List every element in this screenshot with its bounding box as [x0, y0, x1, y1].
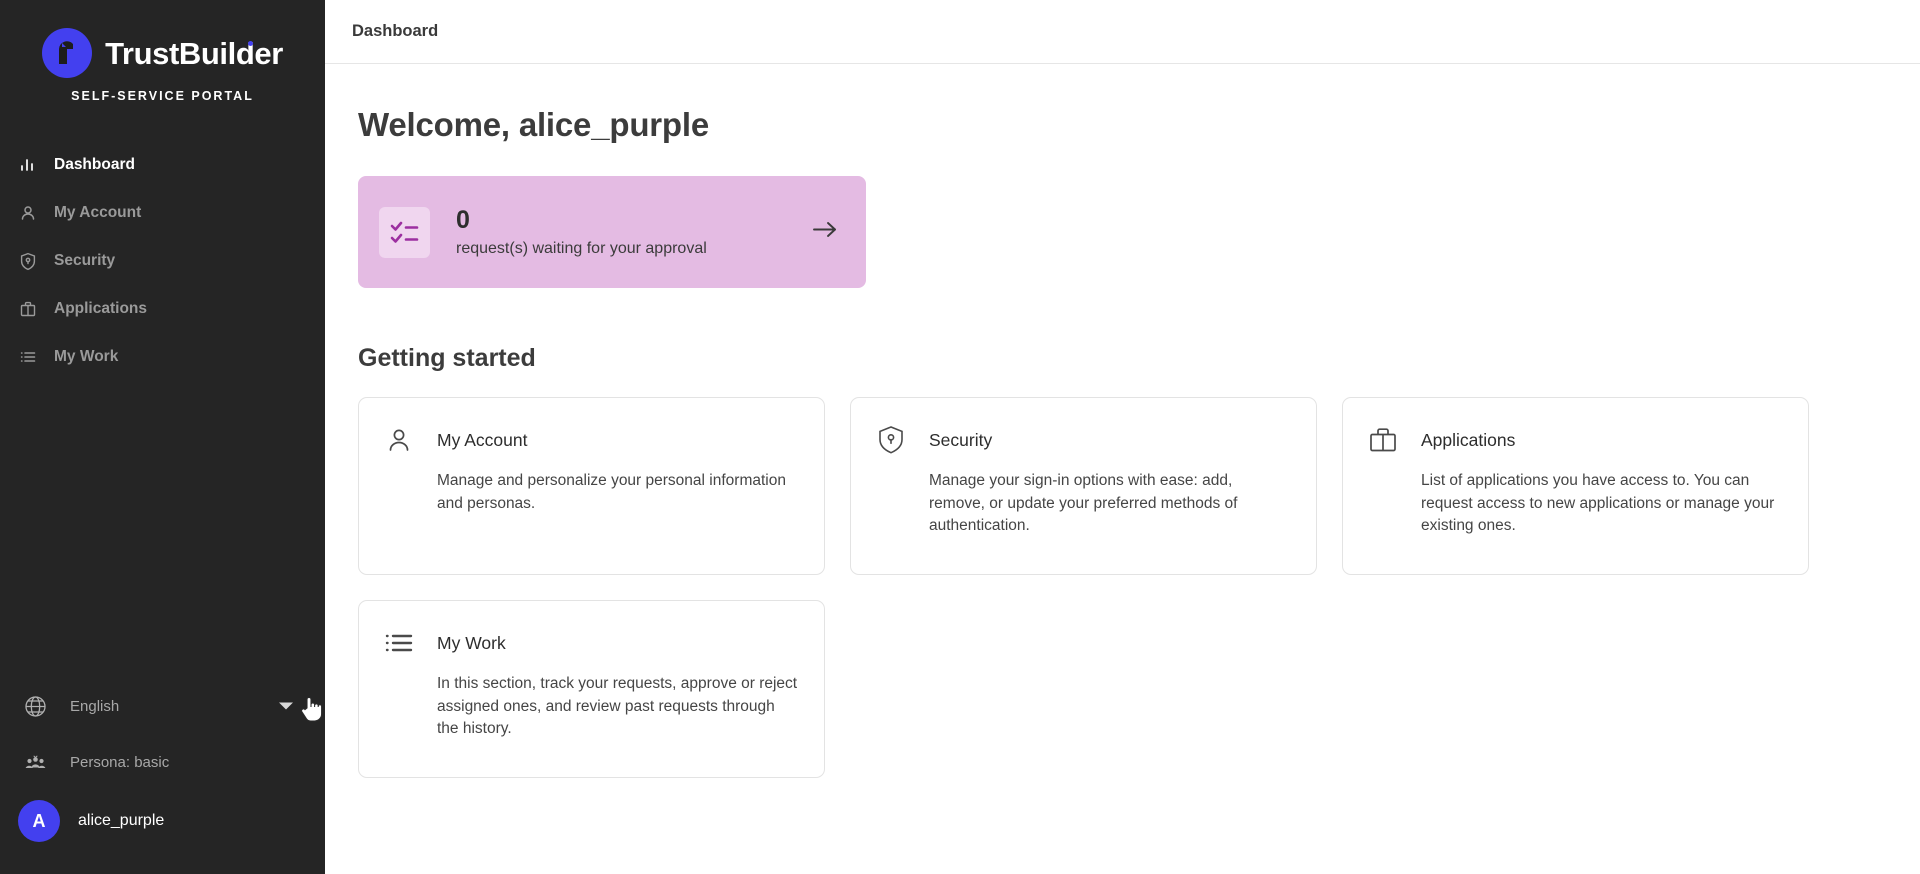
- approval-requests-card[interactable]: 0 request(s) waiting for your approval: [358, 176, 866, 288]
- getting-started-card-my-work[interactable]: My Work In this section, track your requ…: [358, 600, 825, 778]
- sidebar-footer: English Persona: basic A alice_p: [0, 678, 325, 874]
- avatar: A: [18, 800, 60, 842]
- sidebar-item-my-work[interactable]: My Work: [0, 333, 325, 381]
- sidebar-nav: Dashboard My Account Security: [0, 141, 325, 381]
- card-title: Applications: [1421, 430, 1515, 451]
- card-header: My Work: [383, 627, 798, 659]
- getting-started-card-security[interactable]: Security Manage your sign-in options wit…: [850, 397, 1317, 575]
- list-icon: [18, 347, 38, 367]
- shield-lock-icon: [18, 251, 38, 271]
- user-profile[interactable]: A alice_purple: [0, 790, 325, 852]
- globe-icon: [22, 693, 48, 719]
- card-description: List of applications you have access to.…: [1421, 470, 1782, 538]
- card-title: My Work: [437, 633, 506, 654]
- card-description: In this section, track your requests, ap…: [437, 673, 798, 741]
- brand-logo[interactable]: TrustBuilder SELF-SERVICE PORTAL: [0, 0, 325, 103]
- card-description: Manage your sign-in options with ease: a…: [929, 470, 1290, 538]
- app-root: TrustBuilder SELF-SERVICE PORTAL Dashboa…: [0, 0, 1920, 874]
- card-header: Applications: [1367, 424, 1782, 456]
- main-content: Dashboard Welcome, alice_purple 0 reques…: [325, 0, 1920, 874]
- persona-label: Persona: basic: [70, 754, 169, 771]
- approval-count: 0: [456, 206, 707, 235]
- people-icon: [22, 749, 48, 775]
- user-name: alice_purple: [78, 812, 164, 830]
- briefcase-icon: [1367, 424, 1399, 456]
- persona-selector[interactable]: Persona: basic: [0, 734, 325, 790]
- content-area: Welcome, alice_purple 0 request(s) waiti…: [325, 64, 1920, 778]
- checklist-icon: [379, 207, 430, 258]
- user-icon: [18, 203, 38, 223]
- sidebar-item-label: Applications: [54, 300, 147, 318]
- breadcrumb: Dashboard: [352, 22, 438, 41]
- logo-row: TrustBuilder: [42, 28, 283, 78]
- arrow-right-icon[interactable]: [812, 221, 838, 244]
- chevron-down-icon[interactable]: [279, 703, 293, 710]
- shield-lock-icon: [875, 424, 907, 456]
- briefcase-icon: [18, 299, 38, 319]
- getting-started-card-grid: My Account Manage and personalize your p…: [358, 397, 1910, 778]
- brand-name-text: TrustBuilder: [105, 36, 283, 71]
- card-header: My Account: [383, 424, 798, 456]
- trustbuilder-lock-logo-icon: [42, 28, 92, 78]
- getting-started-card-applications[interactable]: Applications List of applications you ha…: [1342, 397, 1809, 575]
- language-selector[interactable]: English: [0, 678, 325, 734]
- approval-label: request(s) waiting for your approval: [456, 240, 707, 258]
- language-label: English: [70, 698, 119, 715]
- topbar: Dashboard: [325, 0, 1920, 64]
- list-icon: [383, 627, 415, 659]
- sidebar: TrustBuilder SELF-SERVICE PORTAL Dashboa…: [0, 0, 325, 874]
- sidebar-item-label: My Account: [54, 204, 141, 222]
- card-title: My Account: [437, 430, 527, 451]
- brand-dot-icon: [248, 41, 253, 46]
- brand-name: TrustBuilder: [105, 38, 283, 69]
- approval-text-block: 0 request(s) waiting for your approval: [456, 206, 707, 258]
- getting-started-card-my-account[interactable]: My Account Manage and personalize your p…: [358, 397, 825, 575]
- sidebar-item-label: Security: [54, 252, 115, 270]
- section-title-getting-started: Getting started: [358, 344, 1920, 373]
- sidebar-item-label: Dashboard: [54, 156, 135, 174]
- sidebar-item-dashboard[interactable]: Dashboard: [0, 141, 325, 189]
- sidebar-item-label: My Work: [54, 348, 118, 366]
- sidebar-item-my-account[interactable]: My Account: [0, 189, 325, 237]
- card-title: Security: [929, 430, 992, 451]
- page-title: Welcome, alice_purple: [358, 106, 1920, 144]
- user-icon: [383, 424, 415, 456]
- bar-chart-icon: [18, 155, 38, 175]
- card-description: Manage and personalize your personal inf…: [437, 470, 798, 515]
- sidebar-item-security[interactable]: Security: [0, 237, 325, 285]
- brand-subtitle: SELF-SERVICE PORTAL: [71, 89, 254, 103]
- card-header: Security: [875, 424, 1290, 456]
- sidebar-spacer: [0, 381, 325, 678]
- sidebar-item-applications[interactable]: Applications: [0, 285, 325, 333]
